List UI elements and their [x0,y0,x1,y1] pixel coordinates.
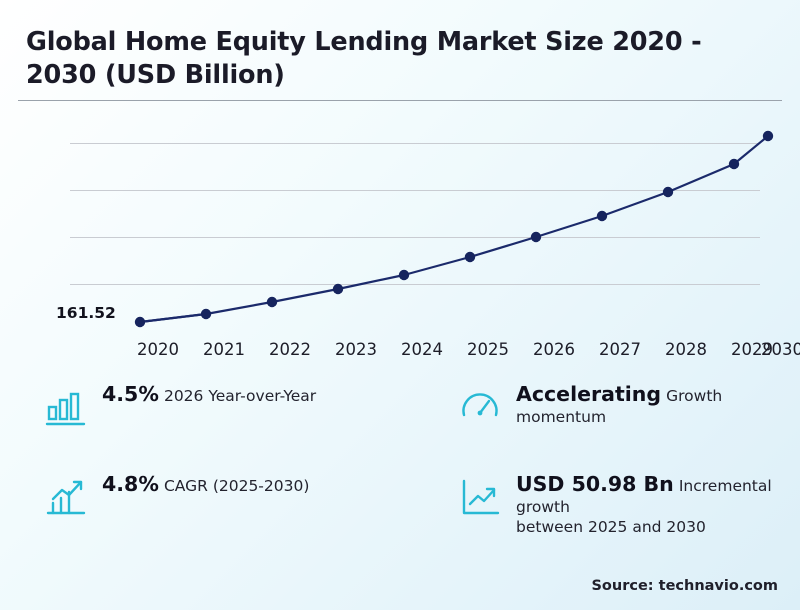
page-title: Global Home Equity Lending Market Size 2… [26,26,774,91]
bar-chart-icon [44,385,88,429]
chart-line-segment-start [140,314,206,322]
infographic-page: Global Home Equity Lending Market Size 2… [0,0,800,610]
source-label: Source: technavio.com [591,578,778,594]
chart-plot [18,112,782,362]
x-tick-label: 2023 [321,340,391,359]
kpi-yoy: 4.5% 2026 Year-over-Year [44,382,316,429]
kpi-description: 2026 Year-over-Year [164,387,316,405]
data-label-2020: 161.52 [56,304,116,322]
growth-bars-arrow-icon [44,475,88,519]
x-tick-label: 2025 [453,340,523,359]
x-tick-label: 2024 [387,340,457,359]
x-tick-label: 2030 [747,340,800,359]
x-tick-label: 2027 [585,340,655,359]
title-divider [18,100,782,101]
kpi-cagr: 4.8% CAGR (2025-2030) [44,472,309,519]
speedometer-icon [458,385,502,429]
kpi-value: Accelerating [516,382,661,406]
kpi-description: CAGR (2025-2030) [164,477,309,495]
chart-line [140,136,768,322]
x-tick-label: 2022 [255,340,325,359]
kpi-value: USD 50.98 Bn [516,472,674,496]
kpi-value: 4.8% [102,472,159,496]
kpi-value: 4.5% [102,382,159,406]
line-chart: 161.52 [18,112,782,362]
kpi-incremental-growth: USD 50.98 Bn Incremental growth between … [458,472,782,537]
kpi-momentum: Accelerating Growth momentum [458,382,782,429]
x-tick-label: 2020 [123,340,193,359]
x-tick-label: 2026 [519,340,589,359]
x-axis: 2020 2021 2022 2023 2024 2025 2026 2027 … [18,340,782,366]
chart-arrow-box-icon [458,475,502,519]
x-tick-label: 2021 [189,340,259,359]
chart-markers [135,131,773,327]
x-tick-label: 2028 [651,340,721,359]
kpi-grid: 4.5% 2026 Year-over-Year Accelerating Gr… [18,382,782,562]
